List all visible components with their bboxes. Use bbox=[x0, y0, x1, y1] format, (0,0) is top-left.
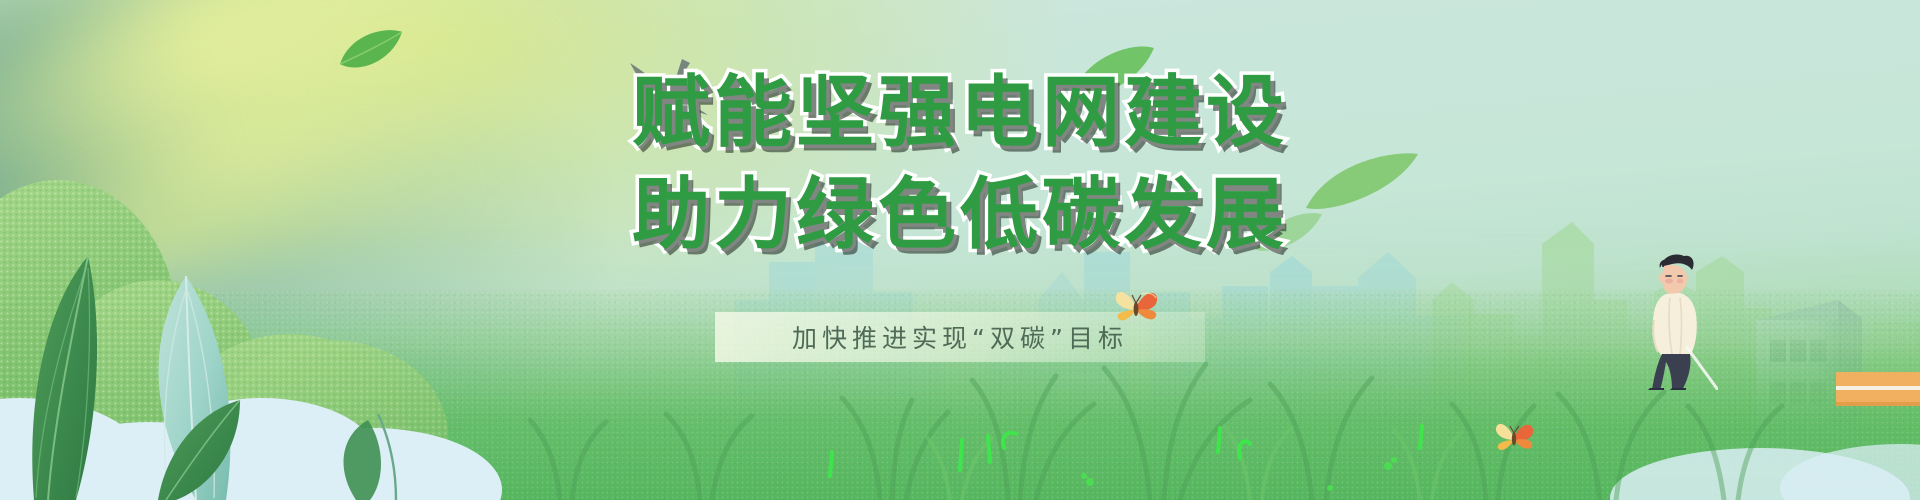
walking-person bbox=[1642, 250, 1718, 390]
subtitle-text: 加快推进实现“双碳”目标 bbox=[792, 319, 1128, 355]
floating-leaf-mid-right bbox=[1302, 150, 1422, 214]
floating-leaf-top-right bbox=[1066, 42, 1158, 102]
floating-leaf-top-left bbox=[336, 26, 406, 74]
swallow-icon bbox=[620, 55, 730, 125]
banner-hero: 赋能坚强电网建设 助力绿色低碳发展 加快推进实现“双碳”目标 bbox=[0, 0, 1920, 500]
grass-blades bbox=[0, 0, 1920, 500]
floating-leaf-left bbox=[1254, 210, 1324, 254]
park-bench bbox=[1832, 366, 1920, 410]
butterfly-center bbox=[1112, 286, 1160, 326]
butterfly-field bbox=[1492, 418, 1536, 456]
